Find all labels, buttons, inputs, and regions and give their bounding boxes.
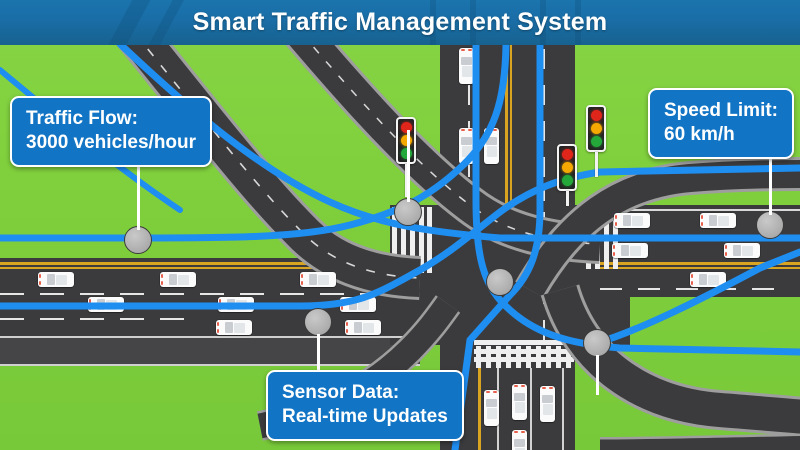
sensor-node-south-east-ramp[interactable] bbox=[583, 329, 611, 357]
sensor-node-south-west-lane[interactable] bbox=[304, 308, 332, 336]
callout-sensor-data[interactable]: Sensor Data: Real-time Updates bbox=[266, 370, 464, 441]
lane-line-south-2 bbox=[530, 368, 532, 450]
callout-speed-limit[interactable]: Speed Limit: 60 km/h bbox=[648, 88, 794, 159]
ramp-northeast bbox=[560, 170, 800, 320]
vehicle bbox=[345, 320, 381, 335]
vehicle bbox=[38, 272, 74, 287]
vehicle bbox=[724, 243, 760, 258]
callout-sensor-data-line1: Sensor Data: bbox=[282, 381, 448, 405]
vehicle bbox=[340, 297, 376, 312]
vehicle bbox=[160, 272, 196, 287]
ramp-southeast bbox=[540, 300, 800, 450]
traffic-light-east-upper[interactable] bbox=[586, 105, 606, 177]
callout-speed-limit-line2: 60 km/h bbox=[664, 123, 778, 147]
callout-speed-limit-line1: Speed Limit: bbox=[664, 99, 778, 123]
vehicle bbox=[459, 128, 474, 164]
sensor-dot-icon bbox=[583, 329, 611, 357]
vehicle bbox=[484, 128, 499, 164]
sensor-node-ramp-merge[interactable] bbox=[394, 198, 422, 226]
green-light-icon bbox=[562, 175, 573, 186]
sensor-node-east-arterial[interactable] bbox=[756, 211, 784, 239]
sensor-dot-icon bbox=[486, 268, 514, 296]
ramp-northwest bbox=[0, 40, 420, 300]
traffic-light-housing bbox=[396, 117, 416, 164]
green-light-icon bbox=[591, 136, 602, 147]
traffic-light-housing bbox=[557, 144, 577, 191]
vehicle bbox=[300, 272, 336, 287]
callout-sensor-data-line2: Real-time Updates bbox=[282, 405, 448, 429]
vehicle bbox=[218, 297, 254, 312]
vehicle bbox=[700, 213, 736, 228]
sensor-dot-icon bbox=[124, 226, 152, 254]
vehicle bbox=[88, 297, 124, 312]
traffic-light-east-lower[interactable] bbox=[557, 144, 577, 206]
sensor-stem bbox=[596, 355, 599, 395]
vehicle bbox=[459, 48, 474, 84]
vehicle bbox=[512, 430, 527, 450]
sensor-node-west-arterial[interactable] bbox=[124, 226, 152, 254]
sensor-dot-icon bbox=[394, 198, 422, 226]
red-light-icon bbox=[562, 149, 573, 160]
callout-traffic-flow[interactable]: Traffic Flow: 3000 vehicles/hour bbox=[10, 96, 212, 167]
vehicle bbox=[690, 272, 726, 287]
page-title: Smart Traffic Management System bbox=[0, 0, 800, 45]
traffic-light-housing bbox=[586, 105, 606, 152]
amber-light-icon bbox=[562, 162, 573, 173]
vehicle bbox=[484, 390, 499, 426]
traffic-light-north-west[interactable] bbox=[396, 117, 416, 197]
traffic-light-pole bbox=[595, 152, 598, 177]
sensor-stem bbox=[407, 130, 410, 202]
vehicle bbox=[614, 213, 650, 228]
callout-traffic-flow-line1: Traffic Flow: bbox=[26, 107, 196, 131]
lane-dash-west-2 bbox=[0, 318, 210, 320]
vehicle bbox=[540, 386, 555, 422]
callout-traffic-flow-line2: 3000 vehicles/hour bbox=[26, 131, 196, 155]
amber-light-icon bbox=[591, 123, 602, 134]
title-bar: Smart Traffic Management System bbox=[0, 0, 800, 45]
vehicle bbox=[612, 243, 648, 258]
sensor-dot-icon bbox=[304, 308, 332, 336]
traffic-scene: Traffic Flow: 3000 vehicles/hour Speed L… bbox=[0, 0, 800, 450]
vehicle bbox=[216, 320, 252, 335]
vehicle bbox=[512, 384, 527, 420]
red-light-icon bbox=[591, 110, 602, 121]
sensor-node-intersection-core[interactable] bbox=[486, 268, 514, 296]
traffic-light-pole bbox=[566, 191, 569, 206]
sensor-dot-icon bbox=[756, 211, 784, 239]
